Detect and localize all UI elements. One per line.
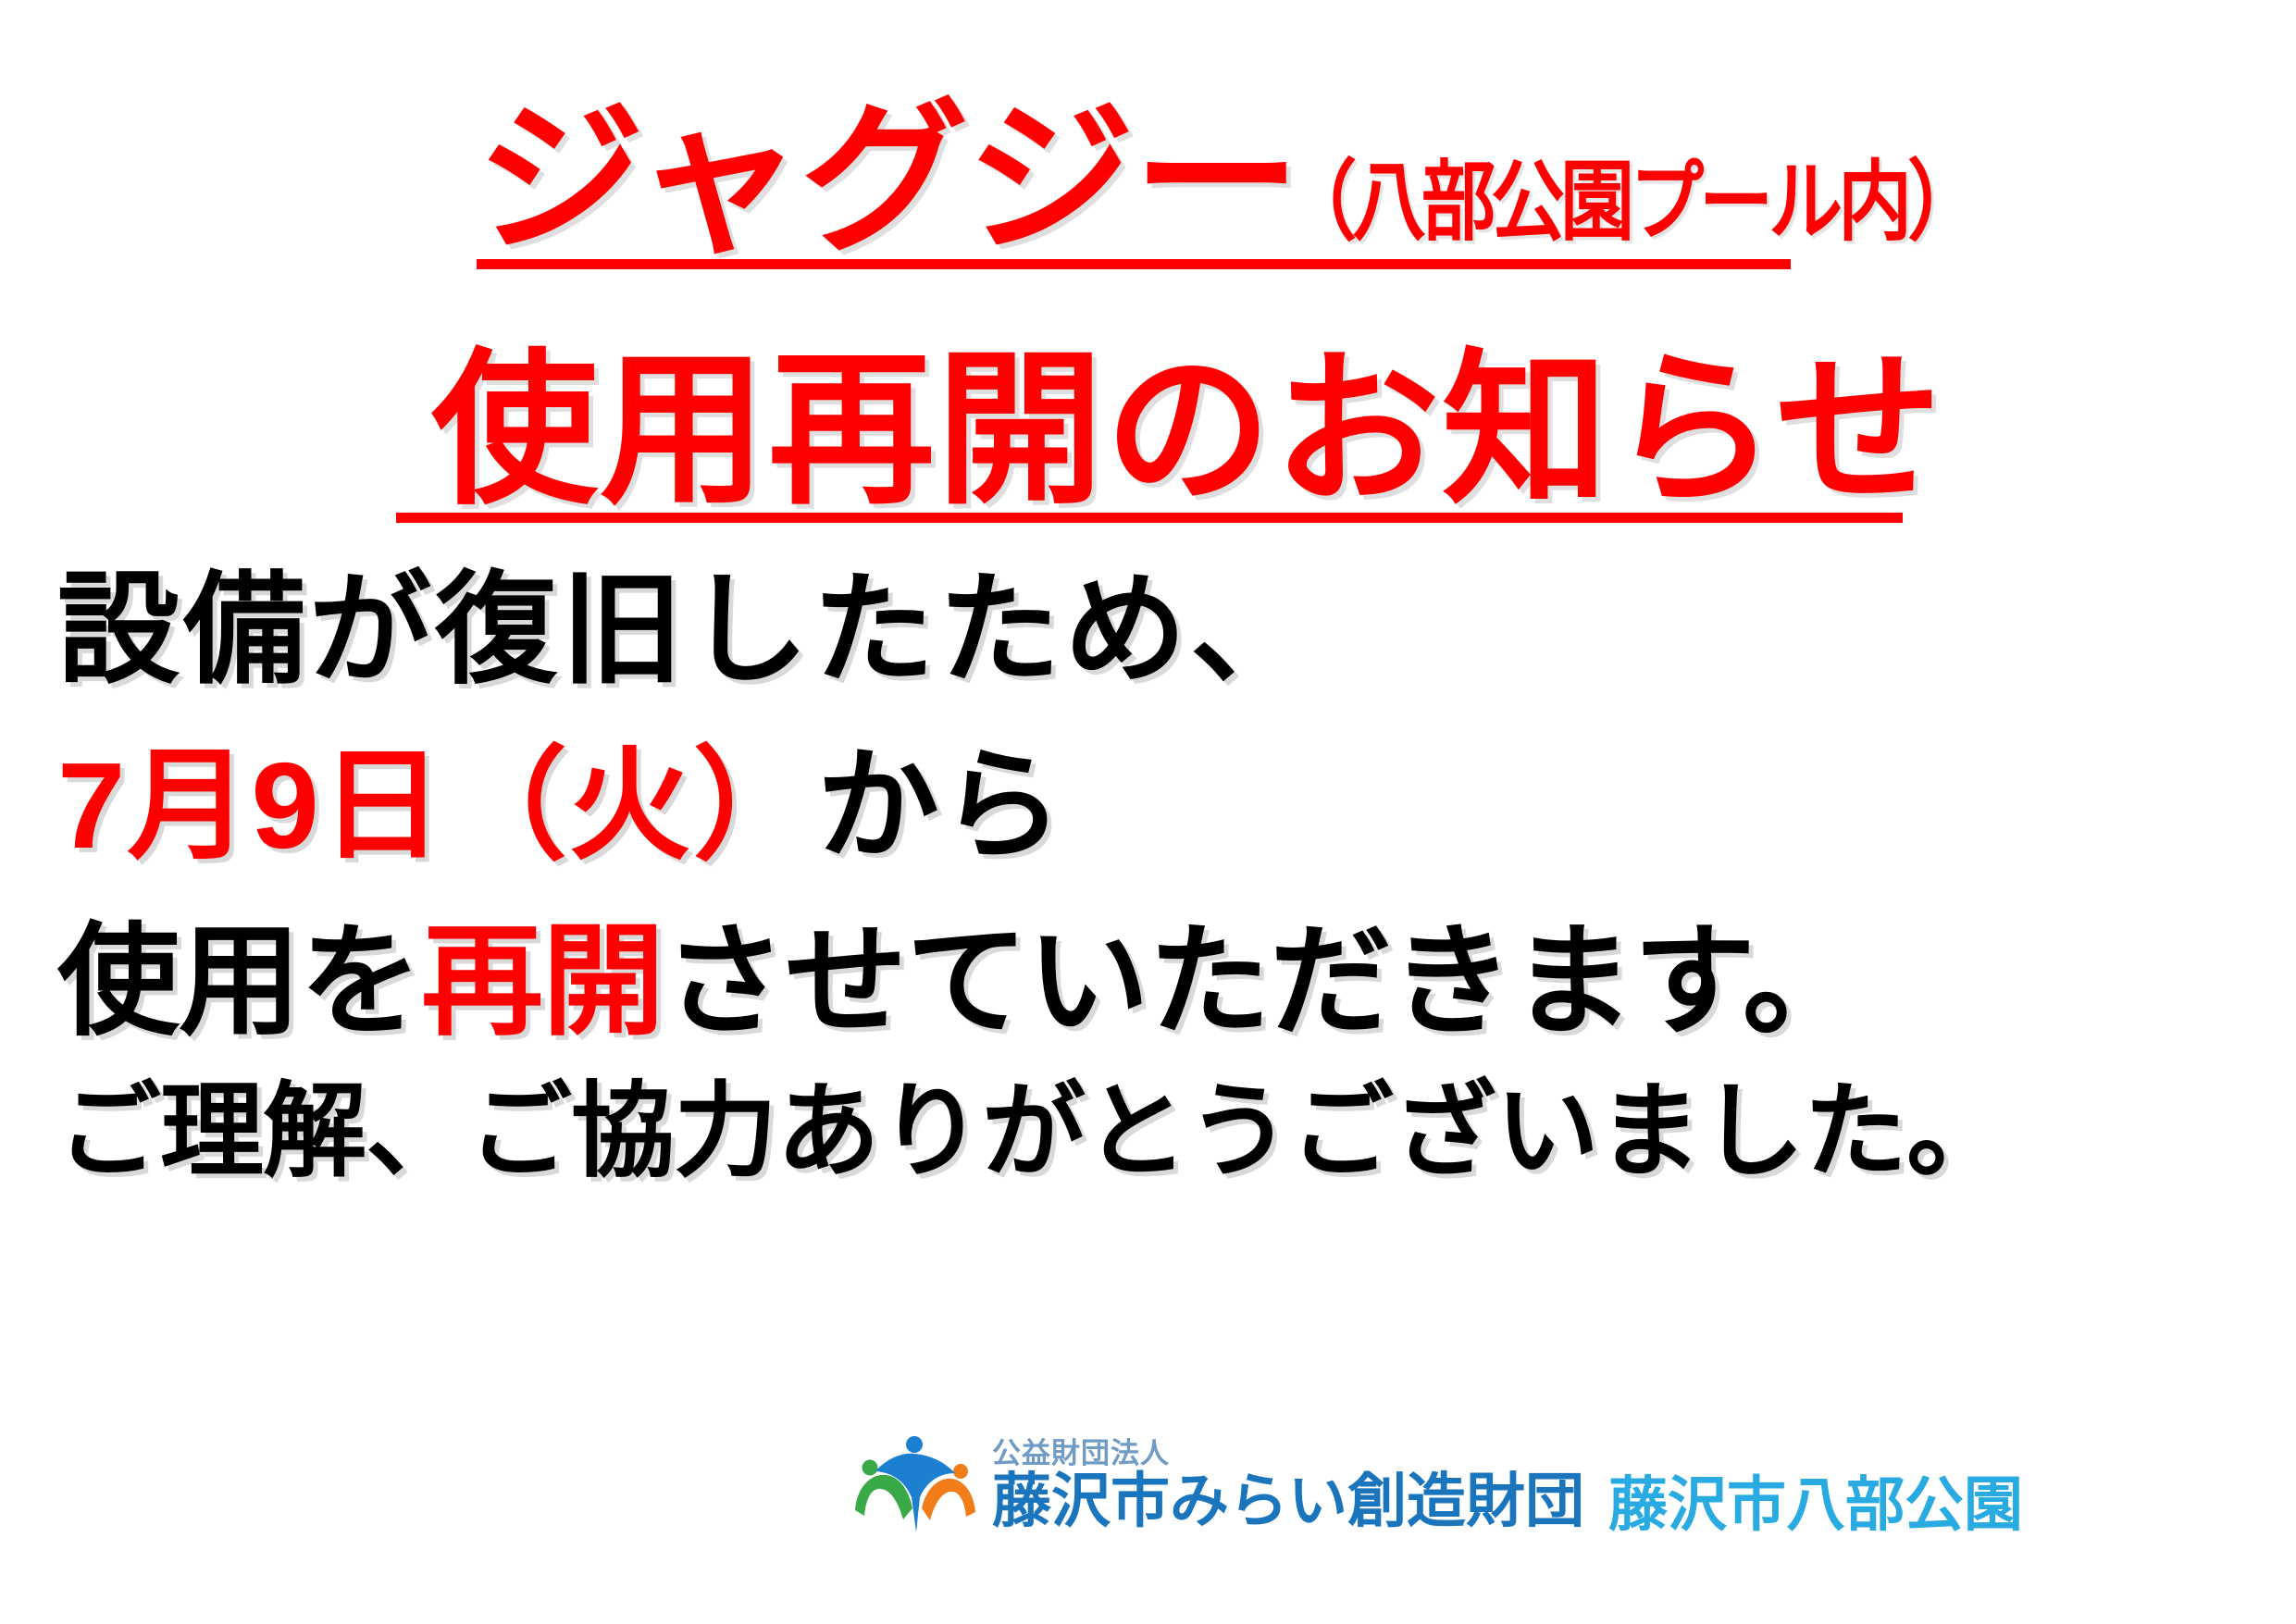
body-segment-reopen: 再開	[421, 913, 664, 1049]
facility-name-label: 藤沢市八部公園	[1608, 1475, 2023, 1536]
body-segment-from: から	[817, 738, 1065, 874]
footer-branding: 公益財団法人 藤沢市みらい創造財団 藤沢市八部公園	[851, 1432, 2023, 1536]
heading-jacuzzi-underline	[477, 259, 1791, 269]
heading-jacuzzi-location: （八部公園プール内）	[1283, 161, 1977, 253]
notice-poster: ジャグジー （八部公園プール内） 使用再開のお知らせ 設備が復旧したため、 7月…	[0, 0, 2296, 1624]
corporation-kind-label: 公益財団法人	[992, 1439, 1584, 1468]
body-segment-reason: 設備が復旧したため、	[57, 562, 1316, 698]
body-segment-thanks: ご理解、ご協力ありがとうございました。	[57, 1073, 2009, 1189]
body-line-thanks: ご理解、ご協力ありがとうございました。	[57, 1080, 2241, 1184]
body-segment-date: 7月9日（火）	[57, 738, 817, 874]
body-line-reason: 設備が復旧したため、	[57, 569, 2241, 691]
notice-body: 設備が復旧したため、 7月9日（火）から 使用を再開させていただきます。 ご理解…	[57, 569, 2241, 1184]
heading-jacuzzi-main: ジャグジー	[477, 107, 1299, 253]
three-figures-logo-icon	[851, 1432, 979, 1536]
heading-reopen-text: 使用再開のお知らせ	[431, 354, 1943, 508]
body-line-resume: 使用を再開させていただきます。	[57, 921, 2241, 1043]
heading-reopen-block: 使用再開のお知らせ	[396, 338, 1903, 523]
foundation-name-block: 公益財団法人 藤沢市みらい創造財団	[992, 1439, 1584, 1531]
corporation-name-label: 藤沢市みらい創造財団	[992, 1471, 1584, 1531]
heading-reopen-underline	[396, 513, 1903, 523]
heading-jacuzzi-row: ジャグジー （八部公園プール内）	[477, 107, 1791, 253]
heading-jacuzzi-block: ジャグジー （八部公園プール内）	[477, 89, 1791, 269]
body-segment-use: 使用を	[57, 913, 421, 1049]
body-segment-resume-tail: させていただきます。	[664, 913, 1864, 1049]
body-line-date: 7月9日（火）から	[57, 745, 2241, 867]
